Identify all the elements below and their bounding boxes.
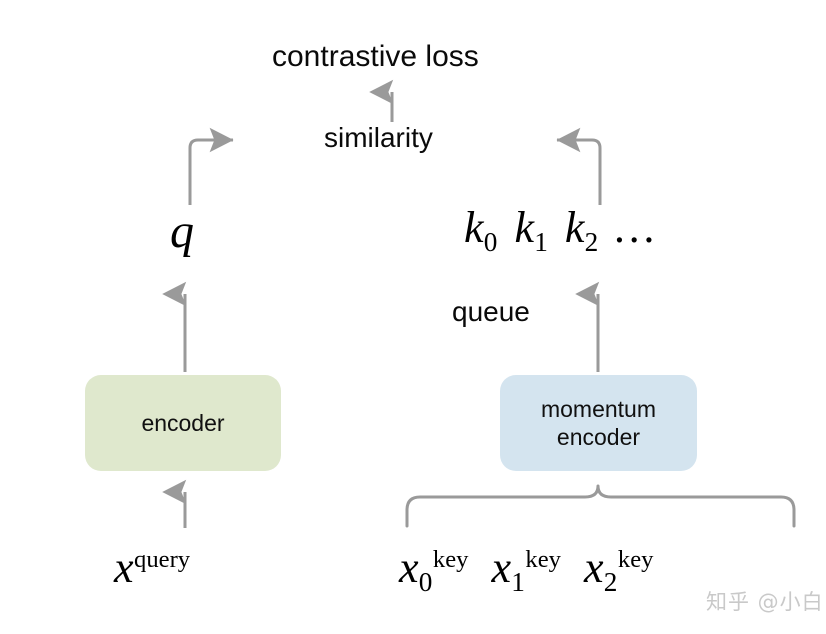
key-representation-1: k1 <box>514 206 547 256</box>
watermark-label: 知乎 @小白 <box>706 586 824 616</box>
key-input-1: x1key <box>491 546 560 596</box>
key-input-2: x2key <box>584 546 653 596</box>
arrow-q-to-similarity <box>190 140 233 205</box>
query-input-symbol: xquery <box>114 546 190 590</box>
queue-label: queue <box>452 298 530 326</box>
arrow-layer <box>0 0 826 634</box>
query-representation-symbol: q <box>170 208 194 256</box>
momentum-encoder-box[interactable]: momentum encoder <box>500 375 697 471</box>
encoder-box[interactable]: encoder <box>85 375 281 471</box>
momentum-encoder-box-label: momentum encoder <box>541 395 656 451</box>
query-representation-base: q <box>170 205 194 258</box>
key-representations-row: k0 k1 k2 … <box>464 206 654 256</box>
key-inputs-brace <box>407 486 794 526</box>
key-representations-ellipsis: … <box>615 206 654 250</box>
arrow-keys-to-similarity <box>557 140 600 205</box>
diagram-canvas: contrastive loss similarity q k0 k1 k2 …… <box>0 0 826 634</box>
encoder-box-label: encoder <box>141 409 224 437</box>
key-representation-2: k2 <box>565 206 598 256</box>
key-inputs-row: x0key x1key x2key <box>399 546 653 596</box>
key-input-0: x0key <box>399 546 468 596</box>
key-representation-0: k0 <box>464 206 497 256</box>
similarity-label: similarity <box>324 124 433 152</box>
contrastive-loss-label: contrastive loss <box>272 42 479 72</box>
